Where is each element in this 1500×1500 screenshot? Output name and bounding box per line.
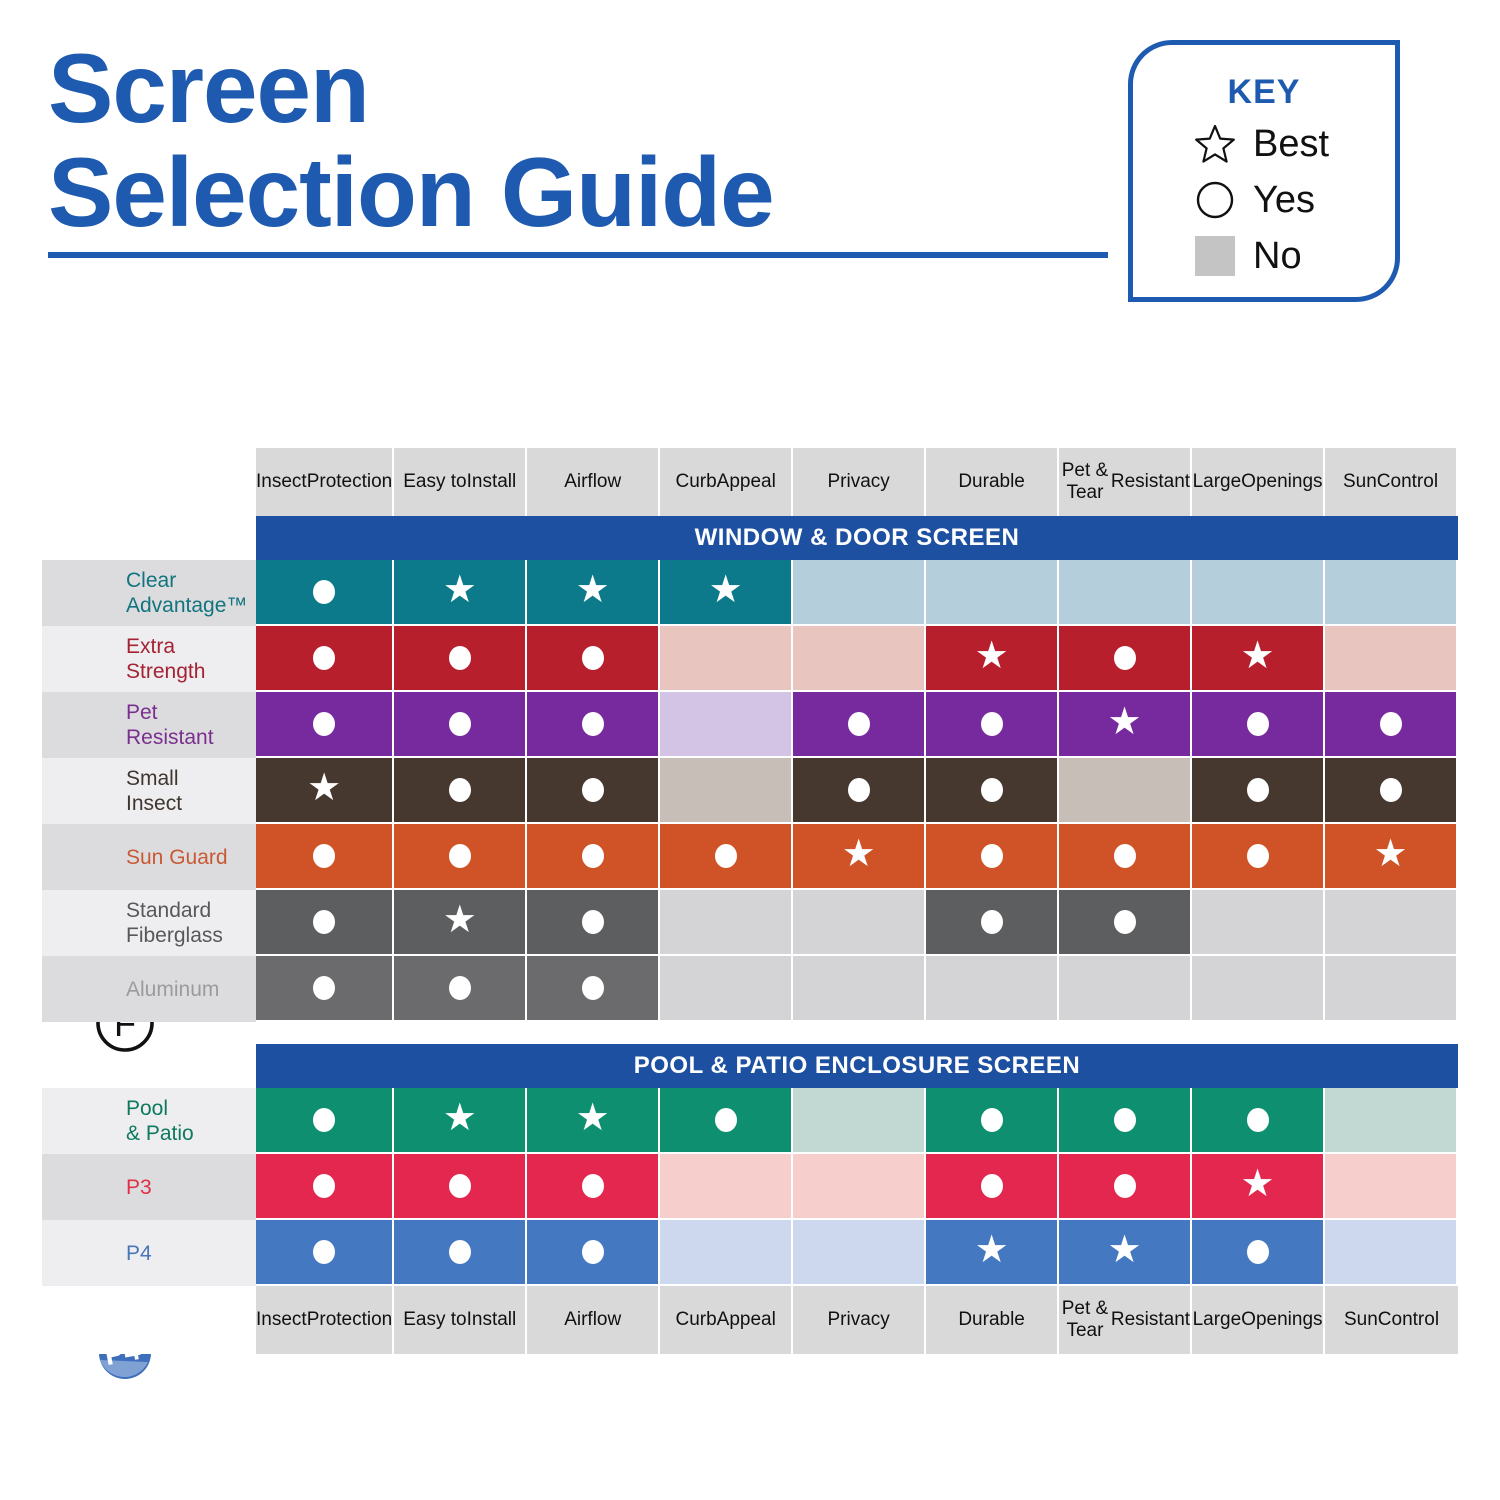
- table-cell[interactable]: [1325, 560, 1458, 626]
- row-label-pet-resistant[interactable]: PetResistant: [42, 692, 256, 758]
- table-cell[interactable]: [1059, 626, 1192, 692]
- table-cell[interactable]: [660, 956, 793, 1022]
- yes-dot-icon: [1247, 778, 1269, 802]
- best-star-icon: ★: [576, 1099, 610, 1137]
- yes-dot-icon: [1114, 1174, 1136, 1198]
- table-cell[interactable]: [1192, 560, 1325, 626]
- section-band-label-pad: [42, 516, 256, 560]
- yes-dot-icon: [848, 778, 870, 802]
- yes-dot-icon: [313, 712, 335, 736]
- best-star-icon: ★: [443, 901, 477, 939]
- table-cell[interactable]: [1325, 626, 1458, 692]
- key-label-best: Best: [1253, 123, 1329, 166]
- table-cell[interactable]: [527, 1220, 660, 1286]
- row-label-pool-patio[interactable]: Pool& Patio: [42, 1088, 256, 1154]
- table-cell[interactable]: [256, 692, 394, 758]
- table-cell[interactable]: [926, 758, 1059, 824]
- yes-dot-icon: [1114, 1108, 1136, 1132]
- table-cell[interactable]: ★: [394, 890, 527, 956]
- column-header-durable[interactable]: Durable: [926, 448, 1059, 516]
- section-gap: [256, 1022, 1458, 1044]
- table-cell[interactable]: ★: [793, 824, 926, 890]
- row-label-text: StandardFiberglass: [126, 898, 223, 948]
- column-header-privacy[interactable]: Privacy: [793, 448, 926, 516]
- table-cell[interactable]: [660, 626, 793, 692]
- column-header-corner-blank: [42, 448, 256, 516]
- yes-dot-icon: [1114, 910, 1136, 934]
- column-header-easy-to-install[interactable]: Easy toInstall: [394, 448, 527, 516]
- column-header-pet-tear-resistant[interactable]: Pet & TearResistant: [1059, 448, 1192, 516]
- table-cell[interactable]: [394, 758, 527, 824]
- key-title: KEY: [1133, 73, 1395, 112]
- table-cell[interactable]: [926, 560, 1059, 626]
- yes-dot-icon: [449, 646, 471, 670]
- table-cell[interactable]: [793, 890, 926, 956]
- row-label-aluminum[interactable]: Aluminum: [42, 956, 256, 1022]
- screen-selection-guide-page: Screen Selection Guide KEY Best Yes: [0, 0, 1500, 1500]
- best-star-icon: ★: [443, 571, 477, 609]
- table-cell[interactable]: [256, 1220, 394, 1286]
- table-cell[interactable]: [527, 956, 660, 1022]
- table-cell[interactable]: [1325, 1088, 1458, 1154]
- table-cell[interactable]: [1325, 1220, 1458, 1286]
- row-label-text: PetResistant: [126, 700, 214, 750]
- row-label-text: P4: [126, 1241, 152, 1266]
- table-cell[interactable]: [926, 824, 1059, 890]
- column-header-line: Airflow: [564, 471, 621, 493]
- best-star-icon: ★: [842, 835, 876, 873]
- yes-dot-icon: [848, 712, 870, 736]
- column-header-sun-control[interactable]: SunControl: [1325, 448, 1458, 516]
- table-cell[interactable]: [394, 626, 527, 692]
- yes-dot-icon: [1114, 646, 1136, 670]
- table-cell[interactable]: [1192, 758, 1325, 824]
- best-star-icon: ★: [443, 1099, 477, 1137]
- yes-dot-icon: [313, 976, 335, 1000]
- star-outline-icon: [1191, 120, 1239, 168]
- column-header-line: Appeal: [717, 1309, 776, 1331]
- table-cell[interactable]: [256, 560, 394, 626]
- footer-header-privacy[interactable]: Privacy: [793, 1286, 926, 1354]
- table-cell[interactable]: [1325, 890, 1458, 956]
- column-header-line: Resistant: [1111, 471, 1190, 493]
- yes-dot-icon: [582, 844, 604, 868]
- column-header-line: Install: [467, 471, 517, 493]
- yes-dot-icon: [1247, 1240, 1269, 1264]
- yes-dot-icon: [449, 1174, 471, 1198]
- table-cell[interactable]: [660, 1088, 793, 1154]
- column-header-line: Privacy: [827, 1309, 889, 1331]
- key-legend-box: KEY Best Yes No: [1128, 40, 1400, 302]
- page-title: Screen Selection Guide: [48, 36, 1108, 258]
- best-star-icon: ★: [1241, 1165, 1275, 1203]
- column-header-line: Openings: [1241, 1309, 1322, 1331]
- comparison-grid: InsectProtectionEasy toInstallAirflowCur…: [42, 448, 1458, 1354]
- row-label-extra-strength[interactable]: ExtraStrength: [42, 626, 256, 692]
- table-cell[interactable]: ★: [527, 560, 660, 626]
- table-cell[interactable]: ★: [926, 1220, 1059, 1286]
- table-cell[interactable]: ★: [527, 1088, 660, 1154]
- yes-dot-icon: [582, 1174, 604, 1198]
- table-cell[interactable]: [1059, 560, 1192, 626]
- table-cell[interactable]: ★: [1192, 626, 1325, 692]
- column-header-line: Easy to: [403, 471, 466, 493]
- yes-dot-icon: [715, 844, 737, 868]
- column-header-curb-appeal[interactable]: CurbAppeal: [660, 448, 793, 516]
- footer-header-sun-control[interactable]: SunControl: [1325, 1286, 1458, 1354]
- yes-dot-icon: [313, 1174, 335, 1198]
- column-header-line: Insect: [256, 471, 307, 493]
- yes-dot-icon: [449, 712, 471, 736]
- table-cell[interactable]: [256, 1154, 394, 1220]
- table-cell[interactable]: ★: [394, 1088, 527, 1154]
- best-star-icon: ★: [1108, 1231, 1142, 1269]
- table-cell[interactable]: [926, 890, 1059, 956]
- footer-header-insect-protection[interactable]: InsectProtection: [256, 1286, 394, 1354]
- table-cell[interactable]: [256, 1088, 394, 1154]
- table-cell[interactable]: [394, 1220, 527, 1286]
- footer-header-durable[interactable]: Durable: [926, 1286, 1059, 1354]
- yes-dot-icon: [313, 1240, 335, 1264]
- table-cell[interactable]: [793, 758, 926, 824]
- footer-header-corner-blank: [42, 1286, 256, 1354]
- circle-outline-icon: [1191, 176, 1239, 224]
- yes-dot-icon: [449, 1240, 471, 1264]
- table-cell[interactable]: [527, 626, 660, 692]
- table-cell[interactable]: [527, 824, 660, 890]
- table-cell[interactable]: [660, 824, 793, 890]
- key-item-yes: Yes: [1133, 176, 1395, 224]
- yes-dot-icon: [449, 844, 471, 868]
- best-star-icon: ★: [975, 1231, 1009, 1269]
- page-title-line-1: Screen: [48, 36, 1108, 140]
- table-cell[interactable]: [1059, 758, 1192, 824]
- yes-dot-icon: [1247, 844, 1269, 868]
- yes-dot-icon: [449, 778, 471, 802]
- yes-dot-icon: [582, 910, 604, 934]
- table-cell[interactable]: ★: [1192, 1154, 1325, 1220]
- yes-dot-icon: [582, 646, 604, 670]
- best-star-icon: ★: [1108, 703, 1142, 741]
- yes-dot-icon: [313, 1108, 335, 1132]
- key-item-no: No: [1133, 232, 1395, 280]
- table-cell[interactable]: [1325, 692, 1458, 758]
- table-cell[interactable]: [1059, 824, 1192, 890]
- table-cell[interactable]: ★: [394, 560, 527, 626]
- table-cell[interactable]: [256, 890, 394, 956]
- table-cell[interactable]: [660, 692, 793, 758]
- key-label-no: No: [1253, 235, 1302, 278]
- table-cell[interactable]: [1192, 692, 1325, 758]
- column-header-line: Protection: [307, 1309, 393, 1331]
- yes-dot-icon: [313, 580, 335, 604]
- column-header-line: Airflow: [564, 1309, 621, 1331]
- column-header-line: Resistant: [1111, 1309, 1190, 1331]
- column-header-line: Easy to: [403, 1309, 466, 1331]
- table-cell[interactable]: [394, 1154, 527, 1220]
- table-cell[interactable]: [1192, 824, 1325, 890]
- column-header-line: Control: [1378, 1309, 1439, 1331]
- table-cell[interactable]: ★: [256, 758, 394, 824]
- table-cell[interactable]: [1325, 1154, 1458, 1220]
- table-cell[interactable]: [527, 890, 660, 956]
- column-header-line: Sun: [1344, 1309, 1378, 1331]
- table-cell[interactable]: [793, 1220, 926, 1286]
- row-label-sun-guard[interactable]: Sun Guard: [42, 824, 256, 890]
- footer-header-easy-to-install[interactable]: Easy toInstall: [394, 1286, 527, 1354]
- table-cell[interactable]: [394, 956, 527, 1022]
- table-cell[interactable]: [793, 1088, 926, 1154]
- column-header-line: Insect: [256, 1309, 307, 1331]
- table-cell[interactable]: [256, 824, 394, 890]
- column-header-line: Privacy: [827, 471, 889, 493]
- column-header-line: Install: [467, 1309, 517, 1331]
- row-label-text: Pool& Patio: [126, 1096, 194, 1146]
- title-underline-rule: [48, 252, 1108, 258]
- yes-dot-icon: [313, 844, 335, 868]
- table-cell[interactable]: ★: [660, 560, 793, 626]
- table-cell[interactable]: [394, 692, 527, 758]
- footer-header-pet-tear-resistant[interactable]: Pet & TearResistant: [1059, 1286, 1192, 1354]
- yes-dot-icon: [715, 1108, 737, 1132]
- yes-dot-icon: [981, 844, 1003, 868]
- table-cell[interactable]: [1192, 956, 1325, 1022]
- comparison-table: F A P3 P4 InsectProtectionEasy toInstall…: [42, 448, 1458, 1354]
- table-cell[interactable]: [394, 824, 527, 890]
- table-cell[interactable]: [1192, 890, 1325, 956]
- row-label-clear-advantage-[interactable]: ClearAdvantage™: [42, 560, 256, 626]
- column-header-line: Large: [1193, 1309, 1242, 1331]
- table-cell[interactable]: [793, 1154, 926, 1220]
- column-header-line: Appeal: [717, 471, 776, 493]
- best-star-icon: ★: [975, 637, 1009, 675]
- table-cell[interactable]: [793, 626, 926, 692]
- table-cell[interactable]: [793, 956, 926, 1022]
- yes-dot-icon: [582, 712, 604, 736]
- key-item-best: Best: [1133, 120, 1395, 168]
- column-header-line: Curb: [675, 471, 716, 493]
- footer-header-curb-appeal[interactable]: CurbAppeal: [660, 1286, 793, 1354]
- row-label-text: SmallInsect: [126, 766, 182, 816]
- table-cell[interactable]: [660, 758, 793, 824]
- table-cell[interactable]: [1192, 1088, 1325, 1154]
- table-cell[interactable]: [926, 692, 1059, 758]
- column-header-line: Sun: [1343, 471, 1377, 493]
- column-header-line: Pet & Tear: [1059, 1298, 1111, 1342]
- column-header-line: Control: [1377, 471, 1438, 493]
- table-cell[interactable]: ★: [1059, 692, 1192, 758]
- table-cell[interactable]: [527, 1154, 660, 1220]
- row-label-text: ExtraStrength: [126, 634, 205, 684]
- row-label-text: P3: [126, 1175, 152, 1200]
- table-cell[interactable]: ★: [926, 626, 1059, 692]
- column-header-line: Curb: [675, 1309, 716, 1331]
- footer-header-airflow[interactable]: Airflow: [527, 1286, 660, 1354]
- column-header-line: Pet & Tear: [1059, 460, 1111, 504]
- section-band-pool-patio: POOL & PATIO ENCLOSURE SCREEN: [256, 1044, 1458, 1088]
- yes-dot-icon: [582, 1240, 604, 1264]
- table-cell[interactable]: [660, 1220, 793, 1286]
- best-star-icon: ★: [307, 769, 341, 807]
- table-cell[interactable]: [1059, 956, 1192, 1022]
- yes-dot-icon: [981, 1108, 1003, 1132]
- row-label-small-insect[interactable]: SmallInsect: [42, 758, 256, 824]
- table-cell[interactable]: ★: [1059, 1220, 1192, 1286]
- yes-dot-icon: [1247, 712, 1269, 736]
- yes-dot-icon: [981, 778, 1003, 802]
- row-label-text: Aluminum: [126, 977, 219, 1002]
- table-cell[interactable]: ★: [1325, 824, 1458, 890]
- table-cell[interactable]: [256, 956, 394, 1022]
- table-cell[interactable]: [527, 692, 660, 758]
- table-cell[interactable]: [1059, 890, 1192, 956]
- table-cell[interactable]: [1059, 1154, 1192, 1220]
- best-star-icon: ★: [576, 571, 610, 609]
- yes-dot-icon: [313, 646, 335, 670]
- yes-dot-icon: [449, 976, 471, 1000]
- yes-dot-icon: [981, 712, 1003, 736]
- yes-dot-icon: [1247, 1108, 1269, 1132]
- column-header-line: Protection: [307, 471, 393, 493]
- yes-dot-icon: [1380, 778, 1402, 802]
- yes-dot-icon: [313, 910, 335, 934]
- column-header-line: Openings: [1241, 471, 1322, 493]
- best-star-icon: ★: [1241, 637, 1275, 675]
- yes-dot-icon: [1380, 712, 1402, 736]
- row-label-text: ClearAdvantage™: [126, 568, 247, 618]
- column-header-line: Durable: [958, 1309, 1025, 1331]
- footer-header-large-openings[interactable]: LargeOpenings: [1192, 1286, 1325, 1354]
- yes-dot-icon: [981, 1174, 1003, 1198]
- yes-dot-icon: [582, 778, 604, 802]
- table-cell[interactable]: [926, 1154, 1059, 1220]
- page-title-line-2: Selection Guide: [48, 140, 1108, 244]
- row-label-text: Sun Guard: [126, 845, 228, 870]
- table-cell[interactable]: [527, 758, 660, 824]
- column-header-insect-protection[interactable]: InsectProtection: [256, 448, 394, 516]
- table-cell[interactable]: [256, 626, 394, 692]
- table-cell[interactable]: [660, 890, 793, 956]
- yes-dot-icon: [981, 910, 1003, 934]
- column-header-airflow[interactable]: Airflow: [527, 448, 660, 516]
- best-star-icon: ★: [1373, 835, 1407, 873]
- yes-dot-icon: [1114, 844, 1136, 868]
- table-cell[interactable]: [660, 1154, 793, 1220]
- best-star-icon: ★: [709, 571, 743, 609]
- gray-square-icon: [1191, 232, 1239, 280]
- column-header-line: Durable: [958, 471, 1025, 493]
- section-band-window-door: WINDOW & DOOR SCREEN: [256, 516, 1458, 560]
- row-label-standard-fiberglass[interactable]: StandardFiberglass: [42, 890, 256, 956]
- column-header-line: Large: [1193, 471, 1242, 493]
- table-cell[interactable]: [1059, 1088, 1192, 1154]
- table-cell[interactable]: [1192, 1220, 1325, 1286]
- table-cell[interactable]: [1325, 758, 1458, 824]
- yes-dot-icon: [582, 976, 604, 1000]
- row-label-p4[interactable]: P4: [42, 1220, 256, 1286]
- table-cell[interactable]: [926, 956, 1059, 1022]
- column-header-large-openings[interactable]: LargeOpenings: [1192, 448, 1325, 516]
- table-cell[interactable]: [926, 1088, 1059, 1154]
- table-cell[interactable]: [793, 692, 926, 758]
- key-label-yes: Yes: [1253, 179, 1315, 222]
- row-label-p3[interactable]: P3: [42, 1154, 256, 1220]
- table-cell[interactable]: [793, 560, 926, 626]
- table-cell[interactable]: [1325, 956, 1458, 1022]
